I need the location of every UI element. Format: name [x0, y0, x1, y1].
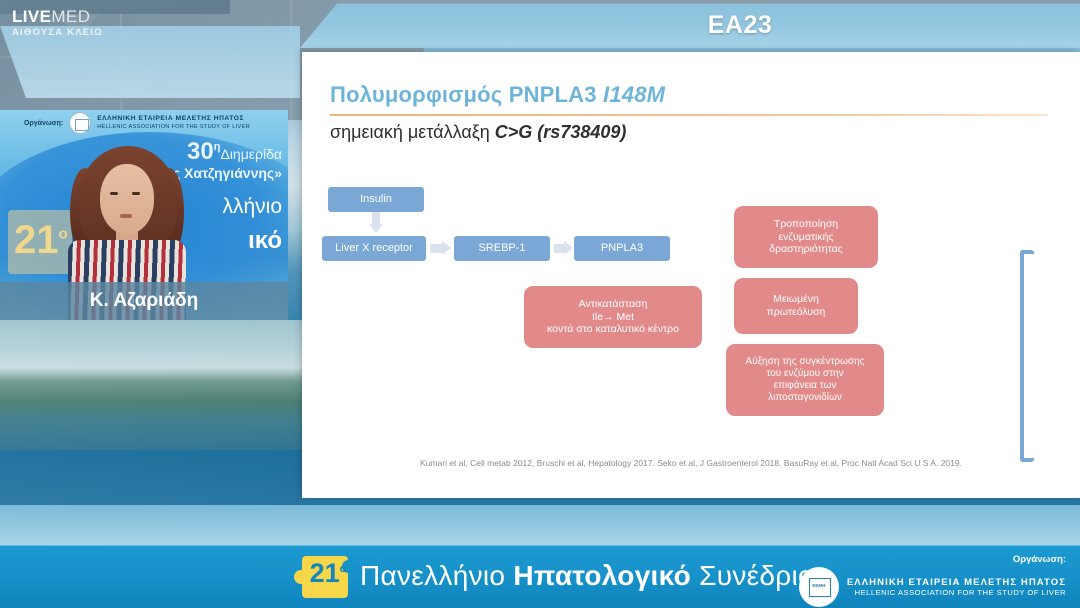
livemed-med: MED: [51, 7, 90, 26]
consequence-line: επιφάνεια των: [774, 380, 837, 392]
speaker-name-label: Κ. Αζαριάδη: [90, 290, 199, 312]
grouping-bracket: [1020, 250, 1034, 462]
backdrop-badge-value: 21: [14, 218, 59, 262]
backdrop-badge-number: 21ο: [14, 218, 68, 263]
banner-edition-value: 21: [310, 558, 340, 588]
arrow-head-down-icon: [369, 224, 383, 233]
consequence-box-concentration: Αύξηση της συγκέντρωσης του ενζύμου στην…: [726, 344, 884, 416]
consequence-line: Μειωμένη: [773, 293, 819, 306]
consequence-line: πρωτεόλυση: [767, 306, 826, 319]
pathway-box-pnpla3: PNPLA3: [574, 236, 670, 261]
society-name-gr: ΕΛΛΗΝΙΚΗ ΕΤΑΙΡΕΙΑ ΜΕΛΕΤΗΣ ΗΠΑΤΟΣ: [97, 115, 250, 123]
society-names: ΕΛΛΗΝΙΚΗ ΕΤΑΙΡΕΙΑ ΜΕΛΕΤΗΣ ΗΠΑΤΟΣ HELLENI…: [97, 115, 250, 130]
arrow-head-right-icon: [442, 241, 451, 255]
slide-title-main: Πολυμορφισμός PNPLA3: [330, 82, 603, 107]
society-name-en: HELLENIC ASSOCIATION FOR THE STUDY OF LI…: [97, 124, 250, 131]
consequence-line: Αύξηση της συγκέντρωσης: [746, 356, 865, 368]
speaker-eye-left: [110, 192, 118, 195]
banner-edition-sup: ο: [340, 563, 347, 575]
slide-title-variant: I148M: [603, 82, 665, 107]
arrow-head-right-icon: [564, 241, 573, 255]
livemed-logo[interactable]: LIVEMED ΑΙΘΟΥΣΑ ΚΛΕΙΩ: [12, 8, 103, 38]
consequence-line: ενζυματικής: [778, 231, 833, 244]
speaker-eye-right: [132, 192, 140, 195]
banner-title: Πανελλήνιο Ηπατολογικό Συνέδριο: [360, 560, 814, 592]
speaker-face: [100, 164, 154, 234]
banner-edition-number: 21ο: [305, 560, 351, 587]
organizer-label: Οργάνωση:: [24, 120, 63, 127]
substitution-box: Αντικατάσταση Ile→ Met κοντά στο καταλυτ…: [524, 286, 702, 348]
slide-subtitle-main: σημειακή μετάλλαξη: [330, 122, 495, 142]
banner-organizer-label: Οργάνωση:: [799, 554, 1066, 565]
banner-title-part1: Πανελλήνιο: [360, 560, 513, 591]
society-seal-icon: [69, 112, 91, 134]
slide-references: Kumari et al, Cell metab 2012, Bruschi e…: [302, 458, 1080, 468]
society-seal-icon: ΕΕΜΗ: [799, 567, 839, 607]
consequence-line: του ενζύμου στην: [766, 368, 843, 380]
banner-society-name-en: HELLENIC ASSOCIATION FOR THE STUDY OF LI…: [847, 588, 1066, 597]
slide-subtitle: σημειακή μετάλλαξη C>G (rs738409): [330, 122, 626, 143]
banner-society-name-gr: ΕΛΛΗΝΙΚΗ ΕΤΑΙΡΕΙΑ ΜΕΛΕΤΗΣ ΗΠΑΤΟΣ: [847, 577, 1066, 588]
substitution-line3: κοντά στο καταλυτικό κέντρο: [547, 323, 679, 336]
substitution-line2: Ile→ Met: [592, 311, 634, 324]
pathway-box-srebp1: SREBP-1: [454, 236, 550, 261]
backdrop-society-header: Οργάνωση: ΕΛΛΗΝΙΚΗ ΕΤΑΙΡΕΙΑ ΜΕΛΕΤΗΣ ΗΠΑΤ…: [0, 110, 288, 136]
pathway-box-insulin: Insulin: [328, 187, 424, 212]
slide-subtitle-variant: C>G (rs738409): [495, 122, 627, 142]
banner-organizer-rows: ΕΕΜΗ ΕΛΛΗΝΙΚΗ ΕΤΑΙΡΕΙΑ ΜΕΛΕΤΗΣ ΗΠΑΤΟΣ HE…: [799, 567, 1066, 607]
speaker-name-bar: Κ. Αζαριάδη: [0, 282, 288, 320]
banner-title-bold: Ηπατολογικό: [513, 560, 691, 591]
substitution-line1: Αντικατάσταση: [579, 298, 648, 311]
consequence-box-proteolysis: Μειωμένη πρωτεόλυση: [734, 278, 858, 334]
banner-title-part2: Συνέδριο: [691, 560, 814, 591]
consequence-box-enzyme-activity: Τροποποίηση ενζυματικής δραστηριότητας: [734, 206, 878, 268]
consequence-line: δραστηριότητας: [769, 243, 842, 256]
livemed-live: LIVE: [12, 7, 51, 26]
title-underline: [330, 114, 1048, 116]
consequence-line: λιποσταγονιδίων: [768, 392, 842, 404]
room-label: ΑΙΘΟΥΣΑ ΚΛΕΙΩ: [12, 27, 103, 38]
slide-title: Πολυμορφισμός PNPLA3 I148M: [330, 82, 665, 108]
pathway-box-liver-x-receptor: Liver X receptor: [322, 236, 426, 261]
presentation-slide[interactable]: Πολυμορφισμός PNPLA3 I148M σημειακή μετά…: [302, 52, 1080, 498]
consequence-line: Τροποποίηση: [774, 218, 838, 231]
livemed-wordmark: LIVEMED: [12, 8, 103, 25]
speaker-video-panel[interactable]: Οργάνωση: ΕΛΛΗΝΙΚΗ ΕΤΑΙΡΕΙΑ ΜΕΛΕΤΗΣ ΗΠΑΤ…: [0, 110, 288, 320]
speaker-mouth: [120, 214, 132, 218]
session-code-label: EA23: [660, 11, 820, 40]
backdrop-event-kind: Διημερίδα: [220, 146, 282, 162]
conference-footer-banner: 21ο Πανελλήνιο Ηπατολογικό Συνέδριο Οργά…: [0, 545, 1080, 608]
banner-society-names: ΕΛΛΗΝΙΚΗ ΕΤΑΙΡΕΙΑ ΜΕΛΕΤΗΣ ΗΠΑΤΟΣ HELLENI…: [847, 577, 1066, 597]
banner-organizer-block: Οργάνωση: ΕΕΜΗ ΕΛΛΗΝΙΚΗ ΕΤΑΙΡΕΙΑ ΜΕΛΕΤΗΣ…: [799, 554, 1066, 607]
society-seal-text: ΕΕΜΗ: [799, 583, 839, 588]
